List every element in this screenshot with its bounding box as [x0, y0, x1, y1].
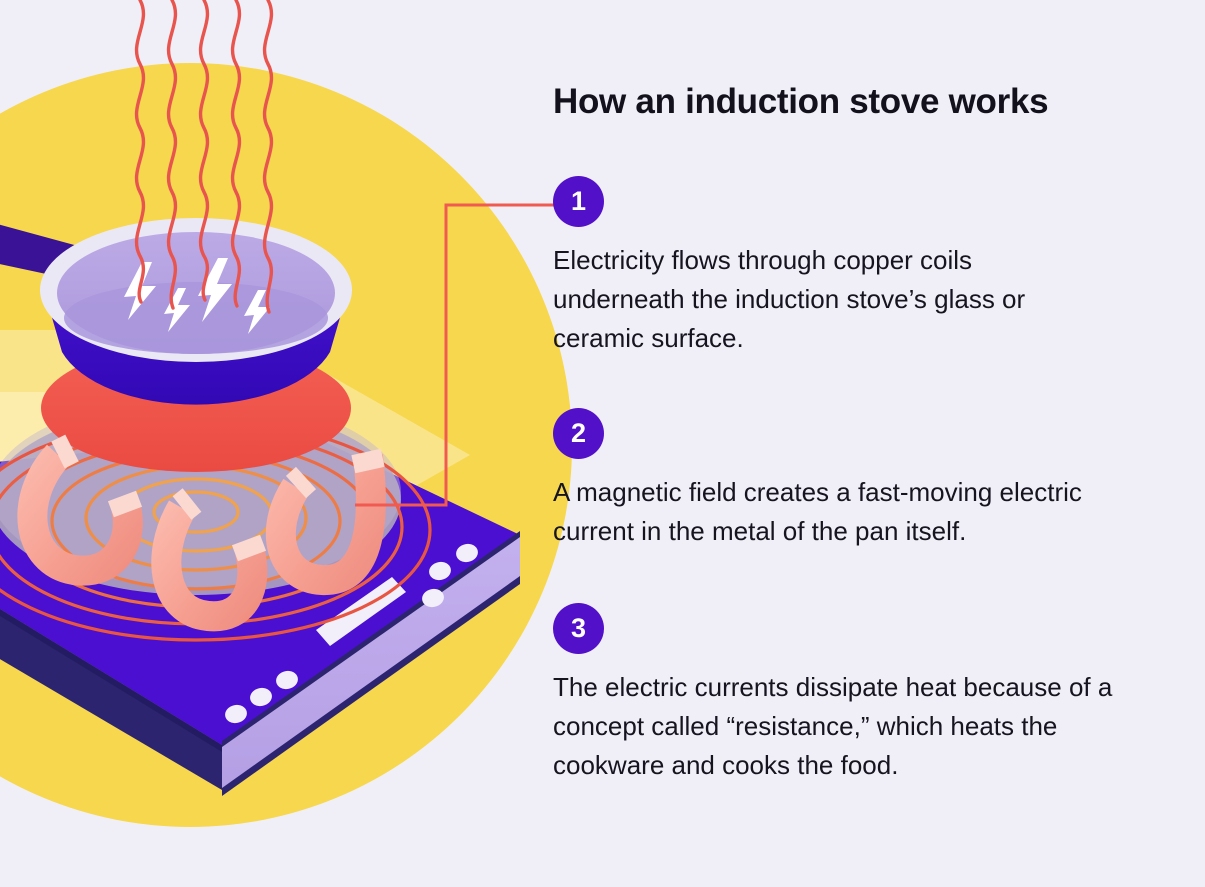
steps-text-column: How an induction stove works 1 Electrici… — [553, 0, 1193, 887]
step-3: 3 The electric currents dissipate heat b… — [553, 603, 1153, 785]
step-badge-2: 2 — [553, 408, 604, 459]
infographic-root: How an induction stove works 1 Electrici… — [0, 0, 1205, 887]
step-1: 1 Electricity flows through copper coils… — [553, 176, 1153, 358]
page-title: How an induction stove works — [553, 82, 1048, 122]
pan-interior-lower-shade — [64, 282, 328, 354]
step-2: 2 A magnetic field creates a fast-moving… — [553, 408, 1153, 551]
step-text-1: Electricity flows through copper coils u… — [553, 241, 1083, 358]
step-text-2: A magnetic field creates a fast-moving e… — [553, 473, 1153, 551]
step-badge-3: 3 — [553, 603, 604, 654]
step-text-3: The electric currents dissipate heat bec… — [553, 668, 1153, 785]
induction-stove-illustration — [0, 0, 600, 887]
step-badge-1: 1 — [553, 176, 604, 227]
